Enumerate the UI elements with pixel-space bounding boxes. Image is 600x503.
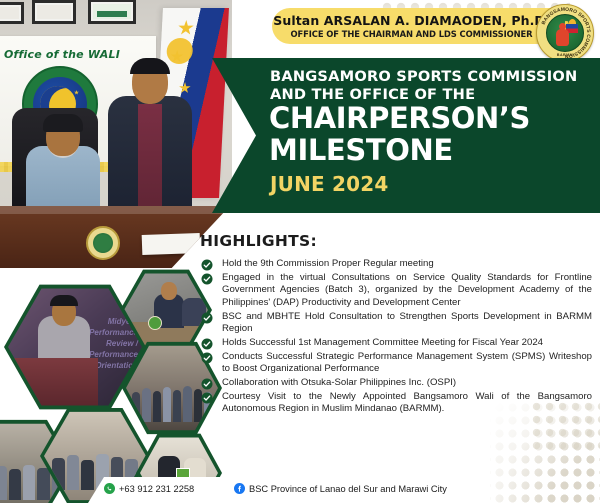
title-chairperson: CHAIRPERSON’S [269,104,530,133]
milestone-poster: Office of the WALI [0,0,600,503]
check-circle-icon [201,259,213,271]
hero-photo-courtesy-visit: Office of the WALI [0,0,232,268]
title-panel: BANGSAMORO SPORTS COMMISSION AND THE OFF… [212,58,600,213]
wall-frame-icon [0,2,24,24]
list-item: BSC and MBHTE Hold Consultation to Stren… [200,311,592,336]
wall-frame-icon [32,0,76,24]
chairman-name: Sultan ARSALAN A. DIAMAODEN, Ph.D. [273,13,550,28]
list-item: Collaboration with Otsuka-Solar Philippi… [200,377,592,389]
check-circle-icon [201,312,213,324]
list-item: Conducts Successful Strategic Performanc… [200,351,592,376]
phone-number: +63 912 231 2258 [119,484,194,494]
check-circle-icon [201,378,213,390]
office-desk [0,206,232,268]
desk-papers [142,233,201,255]
list-item: Engaged in the virtual Consultations on … [200,272,592,309]
desk-seal-icon [86,226,120,260]
list-item: Holds Successful 1st Management Committe… [200,337,592,349]
highlights-section: HIGHLIGHTS: Hold the 9th Commission Prop… [200,232,592,417]
list-item-text: Conducts Successful Strategic Performanc… [222,351,592,374]
facebook-contact[interactable]: BSC Province of Lanao del Sur and Marawi… [234,483,447,494]
highlights-heading: HIGHLIGHTS: [200,232,592,250]
footer-contact-bar: +63 912 231 2258 BSC Province of Lanao d… [0,477,600,503]
chairman-role: OFFICE OF THE CHAIRMAN AND LDS COMMISSIO… [291,29,533,39]
facebook-page-name: BSC Province of Lanao del Sur and Marawi… [249,484,447,494]
check-circle-icon [201,338,213,350]
seal-ribbon-text: BARMM [557,53,573,57]
check-circle-icon [201,392,213,404]
title-line-1: BANGSAMORO SPORTS COMMISSION [270,68,577,85]
wall-frame-icon [88,0,136,24]
wali-banner-text: Office of the WALI [4,48,120,61]
check-circle-icon [201,273,213,285]
title-milestone: MILESTONE [269,136,453,165]
list-item-text: Engaged in the virtual Consultations on … [222,272,592,308]
highlights-list: Hold the 9th Commission Proper Regular m… [200,258,592,416]
list-item-text: Courtesy Visit to the Newly Appointed Ba… [222,391,592,414]
phone-contact[interactable]: +63 912 231 2258 [104,483,194,494]
list-item-text: Hold the 9th Commission Proper Regular m… [222,258,434,269]
facebook-icon [234,483,245,494]
bangsamoro-sports-commission-seal-icon: BANGSAMORO SPORTS COMMISSION BARMM [536,4,594,62]
list-item-text: Holds Successful 1st Management Committe… [222,337,543,348]
chairman-name-banner: Sultan ARSALAN A. DIAMAODEN, Ph.D. OFFIC… [272,8,567,44]
whatsapp-icon [104,483,115,494]
list-item: Hold the 9th Commission Proper Regular m… [200,258,592,270]
check-circle-icon [201,352,213,364]
list-item-text: Collaboration with Otsuka-Solar Philippi… [222,377,456,388]
person-seated-wali [26,116,100,220]
title-month: JUNE 2024 [270,172,389,196]
person-standing-chairman [108,44,192,224]
seal-core [546,14,584,52]
list-item-text: BSC and MBHTE Hold Consultation to Stren… [222,311,592,334]
list-item: Courtesy Visit to the Newly Appointed Ba… [200,391,592,416]
